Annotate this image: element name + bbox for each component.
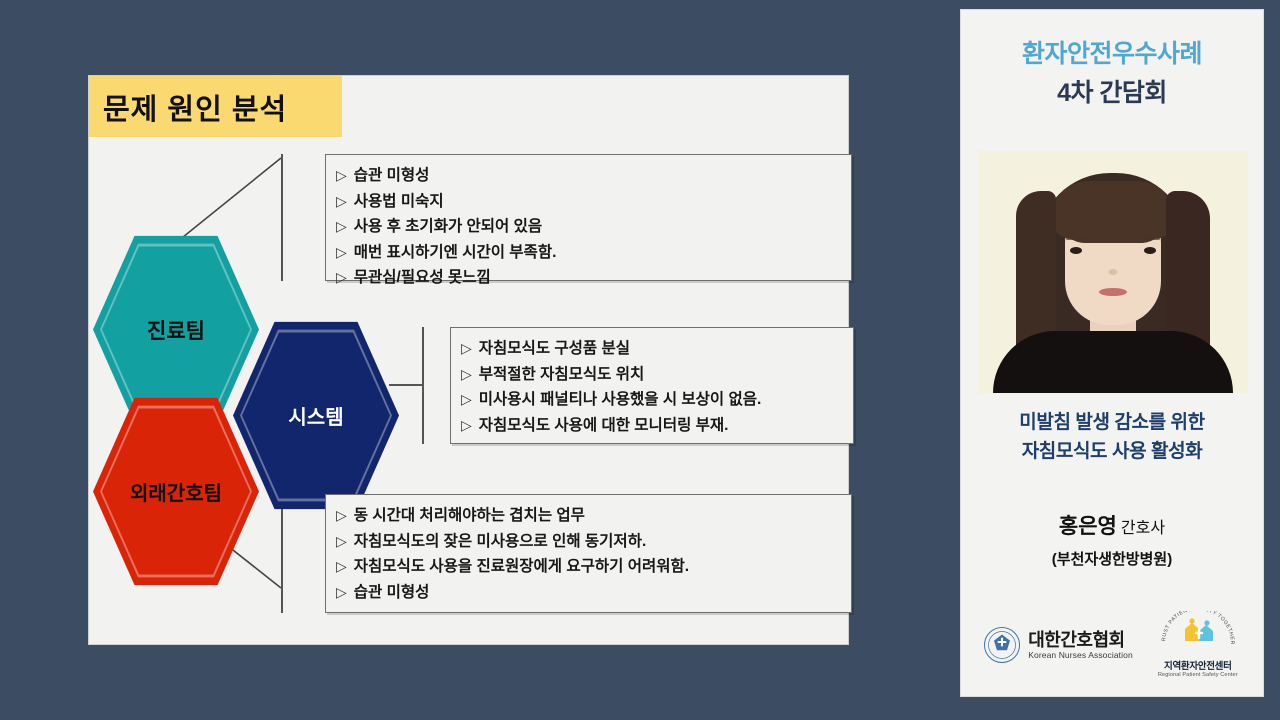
cause-list: ▷습관 미형성 ▷사용법 미숙지 ▷사용 후 초기화가 안되어 있음 ▷매번 표… (336, 163, 841, 291)
panel-title: 환자안전우수사례 4차 간담회 (961, 10, 1263, 109)
panel-title-line1: 환자안전우수사례 (961, 34, 1263, 70)
hexagon-label-system: 시스템 (288, 401, 343, 430)
list-item-text: 자침모식도 사용에 대한 모니터링 부재. (479, 414, 729, 439)
cause-list: ▷자침모식도 구성품 분실 ▷부적절한 자침모식도 위치 ▷미사용시 패널티나 … (461, 336, 843, 438)
kna-name-ko: 대한간호협회 (1028, 630, 1133, 650)
bullet-marker-icon: ▷ (336, 554, 347, 579)
connector-vline-middle (422, 327, 424, 444)
list-item: ▷습관 미형성 (336, 163, 841, 189)
photo-eye-left (1070, 247, 1082, 254)
cause-list: ▷동 시간대 처리해야하는 겹치는 업무 ▷자침모식도의 잦은 미사용으로 인해… (336, 503, 841, 605)
presentation-slide: 문제 원인 분석 진료팀 외래간호팀 시스템 (88, 75, 849, 645)
list-item-text: 사용법 미숙지 (354, 190, 444, 215)
photo-eye-right (1144, 247, 1156, 254)
list-item: ▷부적절한 자침모식도 위치 (461, 362, 843, 388)
list-item: ▷자침모식도 사용을 진료원장에게 요구하기 어려워함. (336, 554, 841, 580)
slide-title-banner: 문제 원인 분석 (89, 76, 342, 137)
hexagon-label-jinryo: 진료팀 (147, 315, 205, 345)
rpsc-name-ko: 지역환자안전센터 (1155, 658, 1241, 672)
presenter-photo (978, 151, 1248, 393)
list-item-text: 습관 미형성 (354, 164, 430, 189)
presentation-subtitle: 미발침 발생 감소를 위한 자침모식도 사용 활성화 (961, 408, 1263, 466)
list-item: ▷동 시간대 처리해야하는 겹치는 업무 (336, 503, 841, 529)
kna-logo: 대한간호협회 Korean Nurses Association (983, 626, 1133, 664)
list-item: ▷무관심/필요성 못느낌 (336, 265, 841, 291)
rpsc-logo: TRUST PATIENT SAFETY TOGETHER 지역환자안전센터 R… (1155, 611, 1241, 678)
slide-title: 문제 원인 분석 (89, 86, 287, 128)
bullet-marker-icon: ▷ (336, 240, 347, 265)
connector-hline-middle (389, 384, 423, 386)
photo-eyebrow-right (1140, 237, 1160, 240)
bullet-marker-icon: ▷ (336, 580, 347, 605)
bullet-marker-icon: ▷ (336, 529, 347, 554)
list-item: ▷자침모식도의 잦은 미사용으로 인해 동기저하. (336, 529, 841, 555)
presenter-credit: 홍은영간호사 (부천자생한방병원) (961, 510, 1263, 569)
photo-mouth (1099, 288, 1127, 296)
list-item-text: 매번 표시하기엔 시간이 부족함. (354, 241, 557, 266)
list-item: ▷사용 후 초기화가 안되어 있음 (336, 214, 841, 240)
list-item: ▷사용법 미숙지 (336, 189, 841, 215)
cause-box-jinryo: ▷습관 미형성 ▷사용법 미숙지 ▷사용 후 초기화가 안되어 있음 ▷매번 표… (325, 154, 852, 281)
connector-vline-bottom (281, 494, 283, 613)
kna-logo-text: 대한간호협회 Korean Nurses Association (1028, 630, 1133, 660)
list-item-text: 동 시간대 처리해야하는 겹치는 업무 (354, 504, 585, 529)
logo-row: 대한간호협회 Korean Nurses Association TRUST P… (961, 611, 1263, 678)
connector-vline-top (281, 154, 283, 281)
bullet-marker-icon: ▷ (336, 163, 347, 188)
panel-title-line2: 4차 간담회 (961, 73, 1263, 109)
photo-eyebrow-left (1066, 237, 1086, 240)
list-item-text: 사용 후 초기화가 안되어 있음 (354, 215, 542, 240)
kna-name-en: Korean Nurses Association (1028, 650, 1133, 660)
rpsc-emblem-icon: TRUST PATIENT SAFETY TOGETHER (1155, 611, 1241, 653)
list-item: ▷자침모식도 구성품 분실 (461, 336, 843, 362)
list-item-text: 무관심/필요성 못느낌 (354, 266, 491, 291)
kna-seal-icon (983, 626, 1021, 664)
list-item-text: 미사용시 패널티나 사용했을 시 보상이 없음. (479, 388, 762, 413)
bullet-marker-icon: ▷ (336, 214, 347, 239)
bullet-marker-icon: ▷ (336, 265, 347, 290)
bullet-marker-icon: ▷ (461, 413, 472, 438)
bullet-marker-icon: ▷ (336, 503, 347, 528)
bullet-marker-icon: ▷ (461, 336, 472, 361)
presenter-organization: (부천자생한방병원) (961, 548, 1263, 569)
list-item: ▷자침모식도 사용에 대한 모니터링 부재. (461, 413, 843, 439)
presenter-role: 간호사 (1121, 520, 1165, 537)
photo-nose (1109, 269, 1118, 275)
presenter-info-panel: 환자안전우수사례 4차 간담회 미발침 발생 감소를 위한 자침모식도 사용 활… (960, 9, 1264, 697)
list-item: ▷습관 미형성 (336, 580, 841, 606)
cause-box-oerae: ▷동 시간대 처리해야하는 겹치는 업무 ▷자침모식도의 잦은 미사용으로 인해… (325, 494, 852, 613)
presenter-name-row: 홍은영간호사 (961, 510, 1263, 540)
list-item-text: 자침모식도 구성품 분실 (479, 337, 630, 362)
screenshot-root: 문제 원인 분석 진료팀 외래간호팀 시스템 (0, 0, 1280, 720)
presenter-name: 홍은영 (1059, 515, 1117, 538)
hexagon-label-oerae: 외래간호팀 (130, 477, 222, 506)
bullet-marker-icon: ▷ (461, 387, 472, 412)
cause-box-system: ▷자침모식도 구성품 분실 ▷부적절한 자침모식도 위치 ▷미사용시 패널티나 … (450, 327, 854, 444)
list-item-text: 자침모식도의 잦은 미사용으로 인해 동기저하. (354, 530, 646, 555)
list-item: ▷매번 표시하기엔 시간이 부족함. (336, 240, 841, 266)
list-item-text: 습관 미형성 (354, 581, 430, 606)
photo-shoulders (993, 331, 1233, 393)
rpsc-name-en: Regional Patient Safety Center (1155, 672, 1241, 678)
subtitle-line2: 자침모식도 사용 활성화 (961, 437, 1263, 466)
subtitle-line1: 미발침 발생 감소를 위한 (961, 408, 1263, 437)
bullet-marker-icon: ▷ (461, 362, 472, 387)
bullet-marker-icon: ▷ (336, 189, 347, 214)
list-item-text: 부적절한 자침모식도 위치 (479, 363, 644, 388)
photo-bangs (1051, 181, 1175, 239)
list-item-text: 자침모식도 사용을 진료원장에게 요구하기 어려워함. (354, 555, 689, 580)
list-item: ▷미사용시 패널티나 사용했을 시 보상이 없음. (461, 387, 843, 413)
